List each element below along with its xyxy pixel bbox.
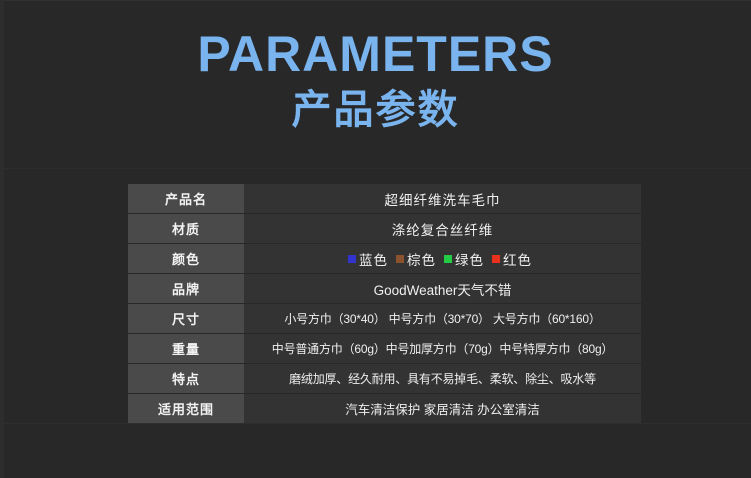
row-label-features: 特点 — [128, 364, 244, 393]
swatch-brown-icon — [396, 255, 404, 263]
table-row: 尺寸 小号方巾（30*40） 中号方巾（30*70） 大号方巾（60*160） — [128, 304, 641, 333]
row-label-size: 尺寸 — [128, 304, 244, 333]
color-option-brown: 棕色 — [396, 249, 436, 269]
header-divider — [0, 168, 751, 169]
row-label-material: 材质 — [128, 214, 244, 243]
heading-chinese: 产品参数 — [0, 84, 751, 136]
heading-english: PARAMETERS — [0, 26, 751, 82]
row-label-scope: 适用范围 — [128, 394, 244, 423]
table-row: 颜色 蓝色 棕色 绿色 红色 — [128, 244, 641, 273]
row-value-brand: GoodWeather天气不错 — [244, 274, 641, 303]
table-row: 特点 磨绒加厚、经久耐用、具有不易掉毛、柔软、除尘、吸水等 — [128, 364, 641, 393]
table-row: 产品名 超细纤维洗车毛巾 — [128, 184, 641, 213]
row-label-color: 颜色 — [128, 244, 244, 273]
top-divider — [4, 0, 751, 1]
table-row: 品牌 GoodWeather天气不错 — [128, 274, 641, 303]
row-value-material: 涤纶复合丝纤维 — [244, 214, 641, 243]
color-label-red: 红色 — [503, 249, 532, 269]
swatch-blue-icon — [348, 255, 356, 263]
row-label-weight: 重量 — [128, 334, 244, 363]
table-row: 重量 中号普通方巾（60g）中号加厚方巾（70g）中号特厚方巾（80g） — [128, 334, 641, 363]
table-row: 材质 涤纶复合丝纤维 — [128, 214, 641, 243]
color-option-green: 绿色 — [444, 249, 484, 269]
color-option-blue: 蓝色 — [348, 249, 388, 269]
swatch-red-icon — [492, 255, 500, 263]
row-label-product-name: 产品名 — [128, 184, 244, 213]
row-label-brand: 品牌 — [128, 274, 244, 303]
row-value-scope: 汽车清洁保护 家居清洁 办公室清洁 — [244, 394, 641, 423]
specification-table: 产品名 超细纤维洗车毛巾 材质 涤纶复合丝纤维 颜色 蓝色 棕色 绿色 — [128, 184, 641, 424]
row-value-color: 蓝色 棕色 绿色 红色 — [244, 244, 641, 273]
color-swatch-list: 蓝色 棕色 绿色 红色 — [348, 249, 537, 269]
row-value-size: 小号方巾（30*40） 中号方巾（30*70） 大号方巾（60*160） — [244, 304, 641, 333]
color-label-brown: 棕色 — [407, 249, 436, 269]
color-option-red: 红色 — [492, 249, 532, 269]
color-label-green: 绿色 — [455, 249, 484, 269]
row-value-product-name: 超细纤维洗车毛巾 — [244, 184, 641, 213]
page-heading: PARAMETERS 产品参数 — [0, 26, 751, 136]
table-row: 适用范围 汽车清洁保护 家居清洁 办公室清洁 — [128, 394, 641, 423]
color-label-blue: 蓝色 — [359, 249, 388, 269]
row-value-features: 磨绒加厚、经久耐用、具有不易掉毛、柔软、除尘、吸水等 — [244, 364, 641, 393]
swatch-green-icon — [444, 255, 452, 263]
row-value-weight: 中号普通方巾（60g）中号加厚方巾（70g）中号特厚方巾（80g） — [244, 334, 641, 363]
